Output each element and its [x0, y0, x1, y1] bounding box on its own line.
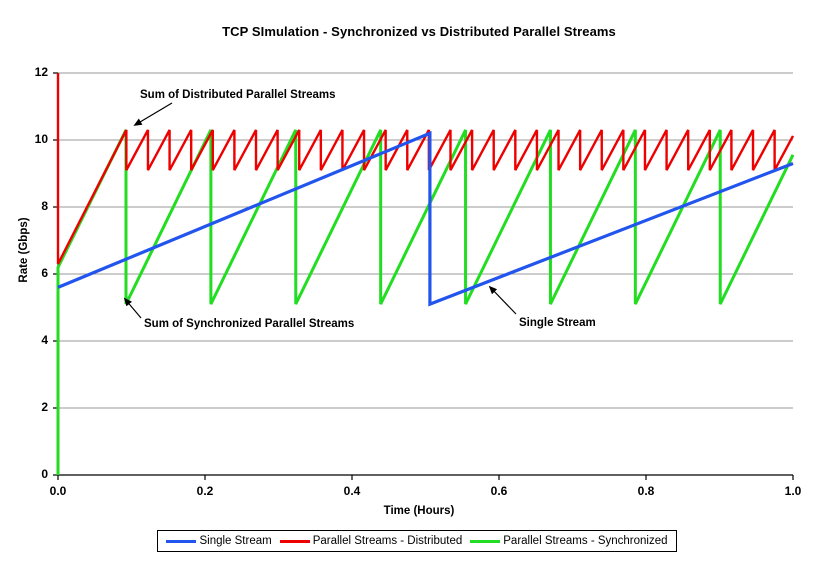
legend-item-3[interactable]: Parallel Streams - Synchronized — [470, 535, 667, 547]
legend-item-label: Single Stream — [199, 535, 271, 547]
legend-item-2[interactable]: Parallel Streams - Distributed — [280, 535, 463, 547]
axis-ticks — [53, 73, 793, 480]
chart-container: TCP SImulation - Synchronized vs Distrib… — [0, 0, 838, 584]
y-tick-label: 4 — [18, 333, 48, 347]
legend-item-label: Parallel Streams - Synchronized — [503, 535, 667, 547]
annotation-arrow-1 — [135, 103, 172, 125]
annotation-label-2: Sum of Synchronized Parallel Streams — [144, 318, 354, 330]
x-tick-label: 0.0 — [35, 484, 81, 498]
x-tick-label: 0.4 — [329, 484, 375, 498]
x-tick-label: 0.8 — [623, 484, 669, 498]
x-tick-label: 0.6 — [476, 484, 522, 498]
x-axis-title: Time (Hours) — [0, 505, 838, 517]
x-tick-label: 1.0 — [770, 484, 816, 498]
annotation-arrow-3 — [490, 287, 516, 314]
plot-area — [0, 0, 838, 584]
series-line-parallel-synchronized — [58, 130, 793, 475]
y-tick-label: 12 — [18, 65, 48, 79]
x-tick-label: 0.2 — [182, 484, 228, 498]
legend-item-1[interactable]: Single Stream — [166, 535, 271, 547]
legend-swatch-icon — [166, 540, 196, 543]
annotation-arrow-2 — [125, 299, 141, 318]
y-tick-label: 0 — [18, 467, 48, 481]
y-tick-label: 2 — [18, 400, 48, 414]
series-line-parallel-distributed — [58, 73, 793, 264]
annotation-label-3: Single Stream — [519, 317, 596, 329]
annotation-label-1: Sum of Distributed Parallel Streams — [140, 89, 336, 101]
chart-legend: Single StreamParallel Streams - Distribu… — [157, 530, 677, 552]
legend-swatch-icon — [280, 540, 310, 543]
legend-item-label: Parallel Streams - Distributed — [313, 535, 463, 547]
y-axis-title: Rate (Gbps) — [18, 200, 30, 300]
y-tick-label: 10 — [18, 132, 48, 146]
legend-swatch-icon — [470, 540, 500, 543]
